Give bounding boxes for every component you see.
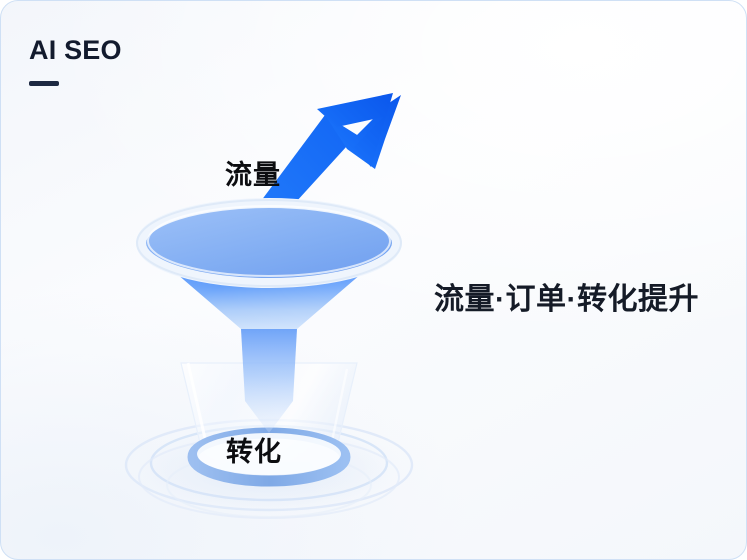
title-underline-rule bbox=[29, 81, 59, 86]
funnel-label-conversion: 转化 bbox=[226, 430, 282, 469]
title-block: AI SEO bbox=[29, 37, 289, 86]
illustration-canvas: AI SEO 流量·订单·转化提升 bbox=[0, 0, 747, 560]
tagline-text: 流量·订单·转化提升 bbox=[434, 274, 699, 318]
funnel-label-traffic: 流量 bbox=[225, 153, 281, 192]
page-title: AI SEO bbox=[29, 37, 289, 64]
